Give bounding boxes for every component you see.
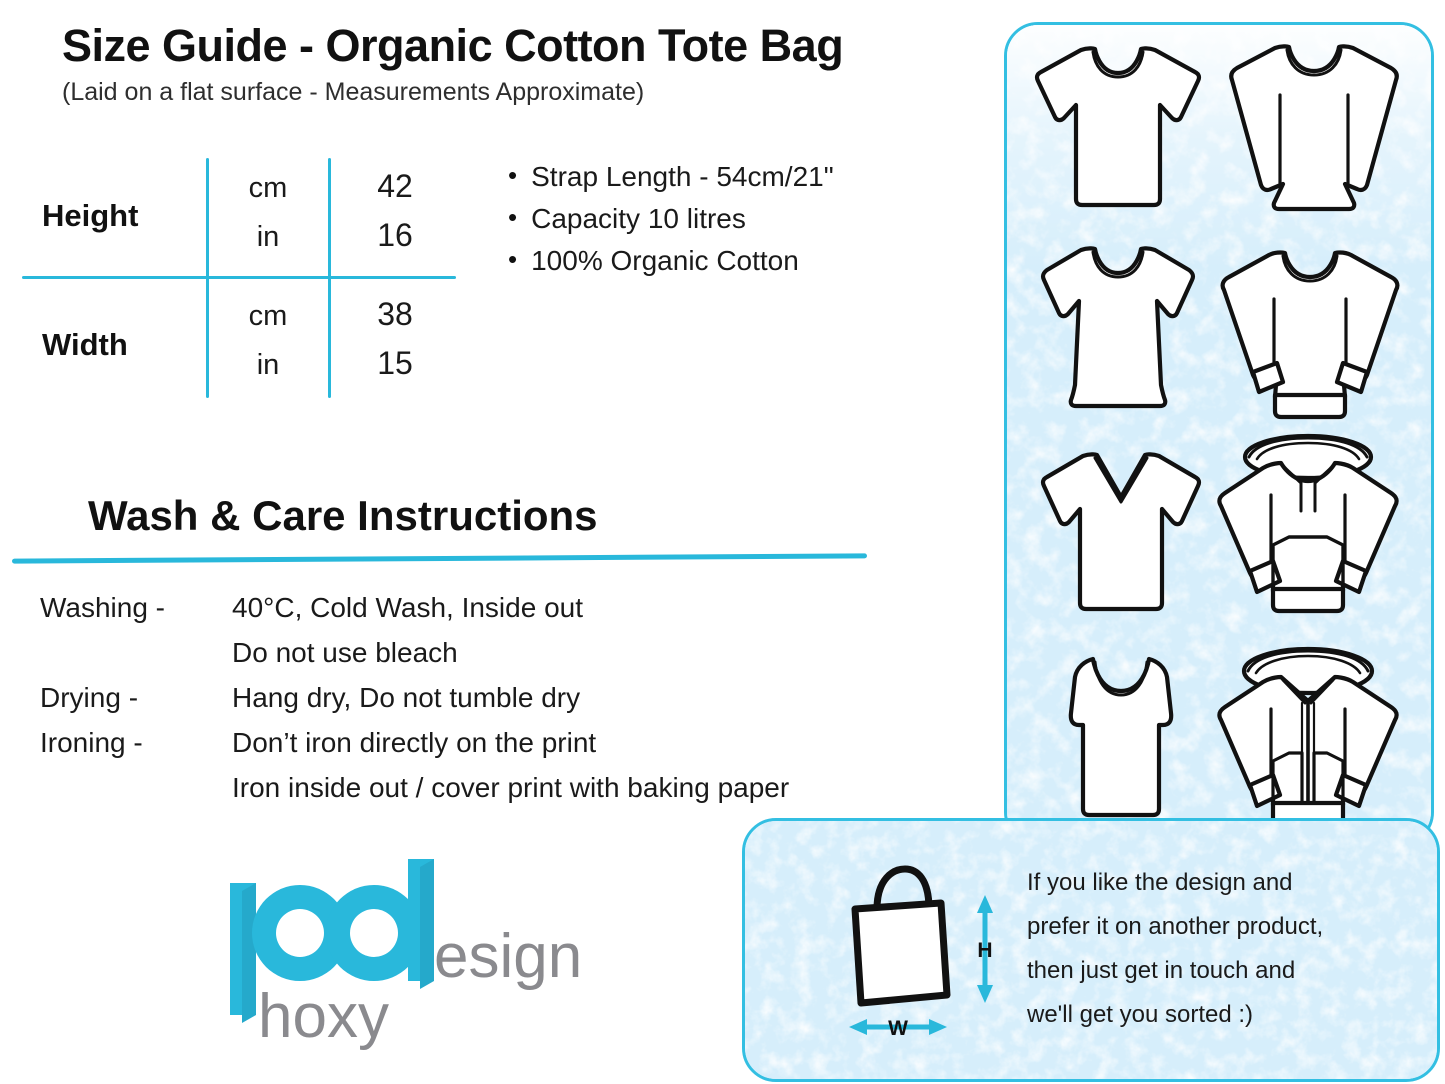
wash-care-title: Wash & Care Instructions bbox=[88, 492, 598, 540]
wash-care-underline bbox=[12, 553, 867, 563]
table-value-width-cm: 38 bbox=[350, 296, 440, 333]
height-label: H bbox=[977, 939, 992, 962]
tote-bag-icon bbox=[855, 869, 947, 1003]
bullet-dot-icon: • bbox=[508, 160, 517, 190]
list-item: • Strap Length - 54cm/21" bbox=[508, 160, 978, 193]
spec-bullet-list: • Strap Length - 54cm/21" • Capacity 10 … bbox=[508, 160, 978, 286]
info-line-1: If you like the design and bbox=[1027, 861, 1419, 905]
table-value-height-in: 16 bbox=[350, 217, 440, 254]
height-arrow-head-down bbox=[977, 985, 993, 1003]
spec-capacity: Capacity 10 litres bbox=[531, 202, 746, 235]
width-arrow-head-left bbox=[849, 1019, 867, 1035]
table-unit-width-cm: cm bbox=[230, 300, 306, 333]
garment-illustration-panel bbox=[1004, 22, 1434, 846]
wash-care-list: Washing - 40°C, Cold Wash, Inside out Do… bbox=[40, 586, 1000, 811]
table-unit-width-in: in bbox=[230, 349, 306, 382]
garment-v-neck-t-shirt bbox=[1035, 445, 1207, 623]
logo-word-esign: esign bbox=[434, 922, 582, 991]
width-arrow-head-right bbox=[929, 1019, 947, 1035]
logo-word-hoxy: hoxy bbox=[258, 982, 389, 1050]
spec-strap-length: Strap Length - 54cm/21" bbox=[531, 160, 834, 193]
wash-care-row: Washing - 40°C, Cold Wash, Inside out bbox=[40, 586, 1000, 630]
contact-info-text: If you like the design and prefer it on … bbox=[1027, 861, 1419, 1037]
info-line-4: we'll get you sorted :) bbox=[1027, 993, 1419, 1037]
contact-info-panel: H W If you like the design and prefer it… bbox=[742, 818, 1440, 1082]
wash-care-value-bleach: Do not use bleach bbox=[232, 631, 458, 675]
height-arrow-head-up bbox=[977, 895, 993, 913]
wash-care-row: Do not use bleach bbox=[40, 631, 1000, 675]
wash-care-key-blank-1 bbox=[40, 631, 232, 675]
bullet-dot-icon: • bbox=[508, 202, 517, 232]
list-item: • 100% Organic Cotton bbox=[508, 244, 978, 277]
wash-care-key-ironing: Ironing - bbox=[40, 721, 232, 765]
info-line-3: then just get in touch and bbox=[1027, 949, 1419, 993]
wash-care-key-drying: Drying - bbox=[40, 676, 232, 720]
width-label: W bbox=[888, 1017, 908, 1040]
tote-bag-dimension-diagram: H W bbox=[837, 853, 1037, 1043]
wash-care-key-blank-2 bbox=[40, 766, 232, 810]
wash-care-value-ironing-2: Iron inside out / cover print with bakin… bbox=[232, 766, 789, 810]
wash-care-row: Ironing - Don’t iron directly on the pri… bbox=[40, 721, 1000, 765]
table-unit-height-in: in bbox=[230, 221, 306, 254]
brand-logo: esign hoxy bbox=[222, 855, 622, 1050]
table-unit-height-cm: cm bbox=[230, 172, 306, 205]
table-divider-horizontal bbox=[22, 276, 456, 279]
garment-t-shirt-short-sleeve bbox=[1029, 39, 1207, 219]
garment-zip-hoodie bbox=[1203, 645, 1413, 846]
page-title: Size Guide - Organic Cotton Tote Bag bbox=[62, 20, 843, 72]
page-subtitle: (Laid on a flat surface - Measurements A… bbox=[62, 78, 644, 107]
info-line-2: prefer it on another product, bbox=[1027, 905, 1419, 949]
table-row-label-height: Height bbox=[42, 198, 138, 234]
bullet-dot-icon: • bbox=[508, 244, 517, 274]
spec-material: 100% Organic Cotton bbox=[531, 244, 799, 277]
wash-care-key-washing: Washing - bbox=[40, 586, 232, 630]
wash-care-value-drying: Hang dry, Do not tumble dry bbox=[232, 676, 580, 720]
list-item: • Capacity 10 litres bbox=[508, 202, 978, 235]
garment-ladies-t-shirt bbox=[1035, 237, 1201, 419]
garment-pullover-hoodie bbox=[1205, 433, 1411, 633]
wash-care-row: Drying - Hang dry, Do not tumble dry bbox=[40, 676, 1000, 720]
garment-long-sleeve-tee bbox=[1221, 37, 1407, 227]
wash-care-value-ironing: Don’t iron directly on the print bbox=[232, 721, 596, 765]
garment-tank-top-vest bbox=[1063, 651, 1179, 823]
garment-sweatshirt bbox=[1213, 243, 1407, 429]
wash-care-row: Iron inside out / cover print with bakin… bbox=[40, 766, 1000, 810]
table-row-label-width: Width bbox=[42, 327, 128, 363]
table-value-width-in: 15 bbox=[350, 345, 440, 382]
wash-care-value-washing: 40°C, Cold Wash, Inside out bbox=[232, 586, 583, 630]
size-table: Height cm in 42 16 Width cm in 38 15 bbox=[0, 150, 480, 405]
table-value-height-cm: 42 bbox=[350, 168, 440, 205]
